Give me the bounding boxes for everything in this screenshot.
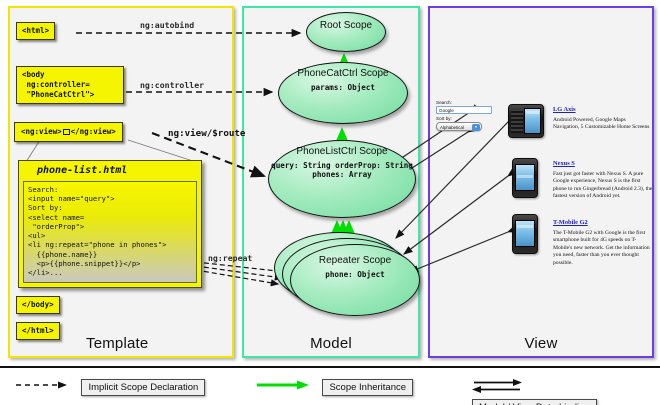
phone-snippet: The T-Mobile G2 with Google is the first…	[553, 230, 653, 268]
scope-repeater-props: phone: Object	[291, 270, 419, 279]
green-arrow-icon	[255, 378, 311, 396]
phone-name-link[interactable]: LG Axis	[553, 106, 653, 114]
note-title: phone-list.html	[19, 161, 201, 179]
connector-label-ngrepeat: ng:repeat	[208, 253, 252, 263]
connector-label-autobind: ng:autobind	[140, 20, 194, 30]
diagram-canvas: Template Model View	[0, 0, 660, 405]
legend-label: Scope Inheritance	[322, 379, 413, 396]
scope-phonecatctrl: PhoneCatCtrl Scope params: Object	[278, 62, 408, 124]
dashed-arrow-icon	[14, 378, 70, 396]
code-body-close: </body>	[16, 296, 60, 314]
ngview-placeholder-icon	[63, 129, 70, 135]
keyboard-icon	[511, 109, 523, 133]
code-html-close: </html>	[16, 322, 60, 340]
phone-screen	[524, 108, 541, 134]
phone-snippet: Android Powered, Google Maps Navigation,…	[553, 117, 653, 132]
search-input[interactable]: Google	[436, 106, 492, 114]
phone-thumbnail-lg-axis	[508, 104, 544, 138]
view-search-form: Search: Google Sort by: Alphabetical ▾	[436, 100, 494, 131]
chevron-down-icon: ▾	[472, 124, 480, 131]
phone-snippet: Fast just got faster with Nexus S. A pur…	[553, 171, 653, 201]
scope-root-name: Root Scope	[307, 13, 385, 32]
connector-label-ngview-route: ng:view/$route	[168, 128, 245, 139]
code-ngview: <ng:view></ng:view>	[14, 122, 123, 142]
scope-repeater-name: Repeater Scope	[291, 245, 419, 267]
list-item: Nexus S Fast just got faster with Nexus …	[553, 160, 653, 201]
scope-repeater: Repeater Scope phone: Object	[290, 244, 420, 316]
sort-select-value: Alphabetical	[440, 125, 464, 130]
search-label: Search:	[436, 100, 494, 105]
phone-thumbnail-nexus-s	[512, 158, 538, 198]
phone-name-link[interactable]: Nexus S	[553, 160, 653, 168]
phone-thumbnail-t-mobile-g2	[512, 214, 538, 254]
code-html-open: <html>	[16, 22, 55, 40]
scope-root: Root Scope	[306, 12, 386, 52]
phone-list-template-note: phone-list.html Search: <input name="que…	[18, 160, 202, 288]
scope-phonecatctrl-name: PhoneCatCtrl Scope	[279, 63, 407, 80]
connector-label-controller: ng:controller	[140, 80, 204, 90]
legend: Implicit Scope Declaration Scope Inherit…	[0, 366, 660, 405]
double-arrow-icon	[472, 378, 524, 399]
legend-label: Model / View Data-binding	[472, 399, 597, 405]
list-item: LG Axis Android Powered, Google Maps Nav…	[553, 106, 653, 132]
column-label-view: View	[430, 335, 652, 352]
scope-phonelistctrl-props: query: String orderProp: String phones: …	[269, 161, 415, 180]
note-code-body: Search: <input name="query"> Sort by: <s…	[23, 181, 197, 283]
phone-screen	[515, 164, 535, 191]
legend-label: Implicit Scope Declaration	[81, 379, 205, 396]
sort-label: Sort by:	[436, 116, 494, 121]
legend-item-implicit-scope: Implicit Scope Declaration	[14, 378, 205, 396]
scope-phonelistctrl-name: PhoneListCtrl Scope	[269, 141, 415, 158]
legend-item-scope-inheritance: Scope Inheritance	[255, 378, 413, 396]
legend-item-data-binding: Model / View Data-binding	[472, 378, 660, 396]
code-body-open: <body ng:controller= "PhoneCatCtrl">	[16, 66, 124, 104]
ngview-close-tag: </ng:view>	[71, 127, 116, 136]
sort-select[interactable]: Alphabetical ▾	[436, 122, 482, 131]
scope-phonelistctrl: PhoneListCtrl Scope query: String orderP…	[268, 140, 416, 218]
column-label-model: Model	[244, 335, 418, 352]
list-item: T-Mobile G2 The T-Mobile G2 with Google …	[553, 219, 653, 267]
phone-name-link[interactable]: T-Mobile G2	[553, 219, 653, 227]
scope-phonecatctrl-props: params: Object	[279, 83, 407, 92]
ngview-open-tag: <ng:view>	[21, 127, 62, 136]
phone-screen	[515, 220, 535, 247]
